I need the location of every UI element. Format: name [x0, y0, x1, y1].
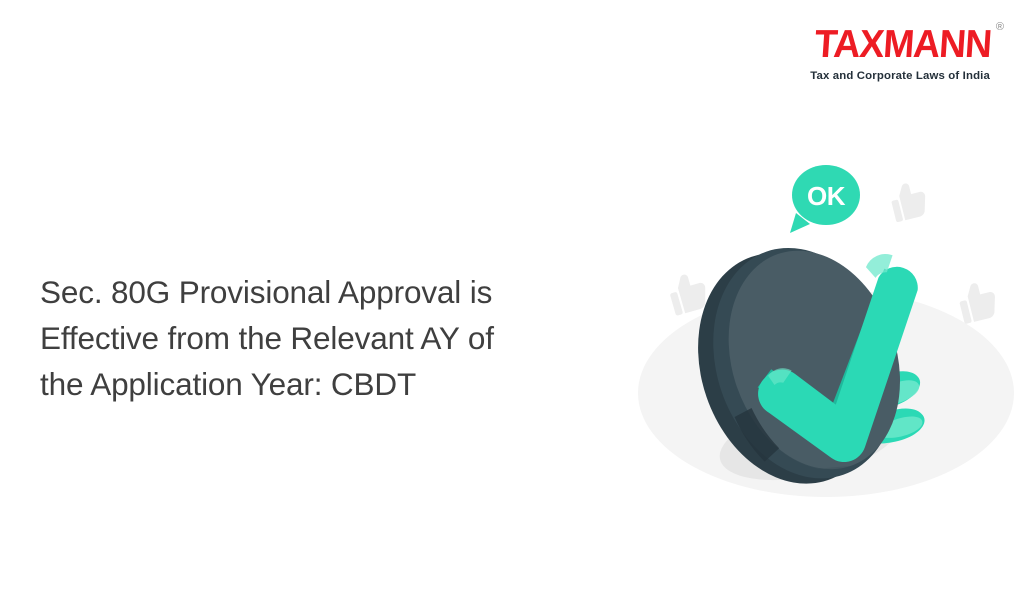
- logo-tagline: Tax and Corporate Laws of India: [790, 70, 990, 82]
- taxmann-logo: TAXMANN ® Tax and Corporate Laws of Indi…: [790, 26, 990, 96]
- thumbs-up-right-icon: [956, 279, 1000, 324]
- ok-speech-bubble: OK: [790, 165, 860, 233]
- logo-wordmark-wrap: TAXMANN ®: [806, 26, 990, 64]
- logo-wordmark: TAXMANN: [814, 26, 993, 64]
- page-title: Sec. 80G Provisional Approval is Effecti…: [40, 269, 510, 407]
- ok-bubble-label: OK: [807, 181, 846, 211]
- approved-checkmark-badge-illustration: OK: [628, 140, 1024, 540]
- thumbs-up-top-right-icon: [888, 179, 930, 222]
- banner-canvas: TAXMANN ® Tax and Corporate Laws of Indi…: [0, 0, 1024, 600]
- thumbs-up-left-icon: [666, 270, 711, 316]
- registered-trademark-icon: ®: [996, 22, 1004, 33]
